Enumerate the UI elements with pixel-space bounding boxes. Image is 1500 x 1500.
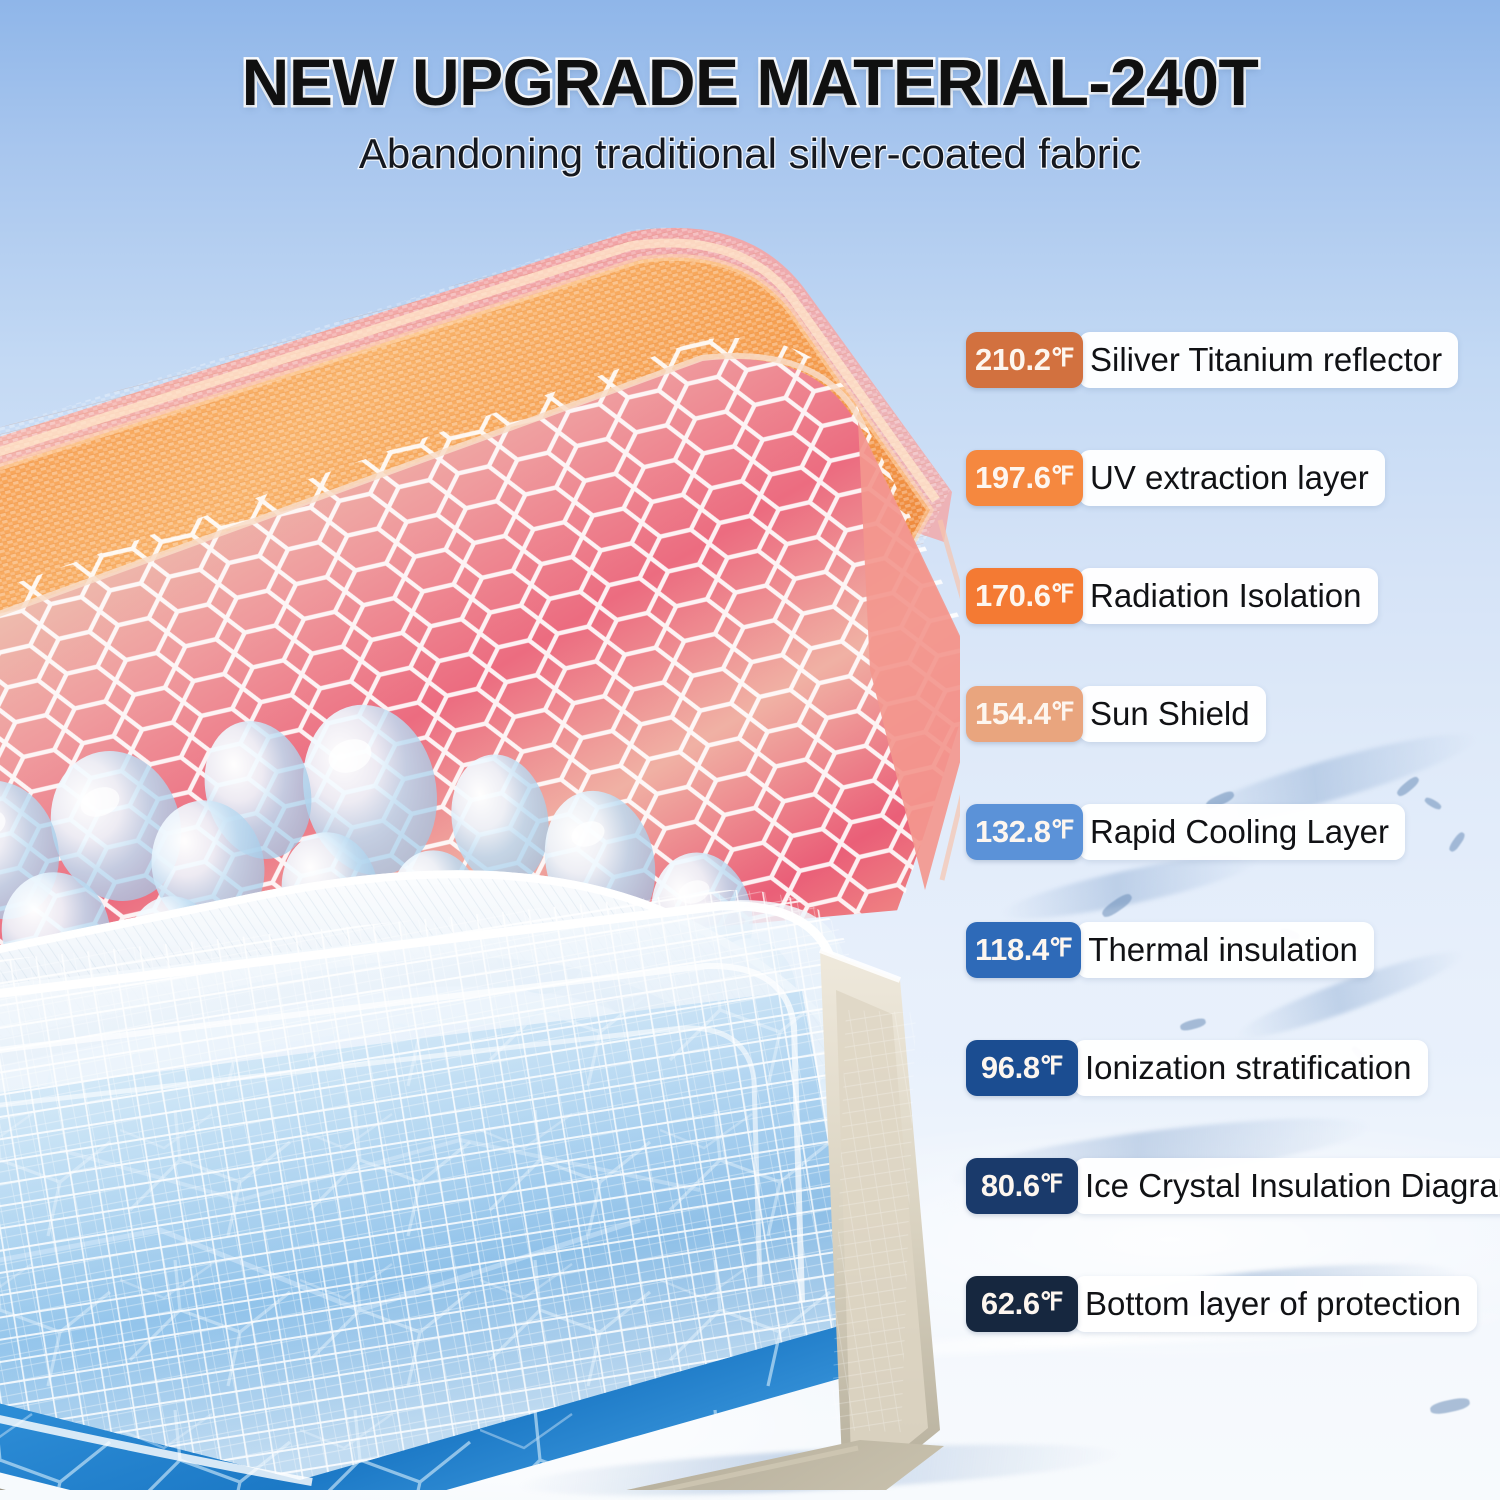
legend-row-ionization-stratification: 96.8℉Ionization stratification (966, 1040, 1428, 1096)
temperature-badge-thermal-insulation: 118.4℉ (966, 922, 1081, 978)
legend-row-radiation-isolation: 170.6℉Radiation Isolation (966, 568, 1378, 624)
layer-label-thermal-insulation: Thermal insulation (1077, 922, 1374, 978)
degree-fahrenheit-unit: ℉ (1040, 1169, 1063, 1199)
legend-row-silver-titanium-reflector: 210.2℉Siliver Titanium reflector (966, 332, 1458, 388)
layer-label-radiation-isolation: Radiation Isolation (1079, 568, 1378, 624)
layer-label-sun-shield: Sun Shield (1079, 686, 1266, 742)
degree-fahrenheit-unit: ℉ (1051, 697, 1074, 727)
temperature-value: 62.6 (981, 1286, 1040, 1322)
ice-speck (1429, 1396, 1471, 1416)
degree-fahrenheit-unit: ℉ (1051, 815, 1074, 845)
legend-row-uv-extraction-layer: 197.6℉UV extraction layer (966, 450, 1385, 506)
temperature-badge-sun-shield: 154.4℉ (966, 686, 1083, 742)
legend-row-thermal-insulation: 118.4℉Thermal insulation (966, 922, 1374, 978)
degree-fahrenheit-unit: ℉ (1040, 1051, 1063, 1081)
temperature-value: 96.8 (981, 1050, 1040, 1086)
layer-label-silver-titanium-reflector: Siliver Titanium reflector (1079, 332, 1458, 388)
layer-label-ice-crystal-insulation-diagram: Ice Crystal Insulation Diagram (1074, 1158, 1500, 1214)
temperature-badge-bottom-layer-of-protection: 62.6℉ (966, 1276, 1078, 1332)
temperature-value: 80.6 (981, 1168, 1040, 1204)
temperature-badge-radiation-isolation: 170.6℉ (966, 568, 1083, 624)
fabric-layers-illustration (0, 190, 960, 1490)
degree-fahrenheit-unit: ℉ (1051, 579, 1074, 609)
page-subtitle: Abandoning traditional silver-coated fab… (0, 131, 1500, 177)
temperature-badge-ionization-stratification: 96.8℉ (966, 1040, 1078, 1096)
legend-row-ice-crystal-insulation-diagram: 80.6℉Ice Crystal Insulation Diagram (966, 1158, 1496, 1214)
temperature-badge-ice-crystal-insulation-diagram: 80.6℉ (966, 1158, 1078, 1214)
temperature-value: 210.2 (975, 342, 1051, 378)
legend-row-bottom-layer-of-protection: 62.6℉Bottom layer of protection (966, 1276, 1477, 1332)
page-title: NEW UPGRADE MATERIAL-240T (0, 48, 1500, 117)
layer-label-ionization-stratification: Ionization stratification (1074, 1040, 1428, 1096)
temperature-value: 118.4 (975, 932, 1049, 968)
legend-row-rapid-cooling-layer: 132.8℉Rapid Cooling Layer (966, 804, 1405, 860)
temperature-badge-uv-extraction-layer: 197.6℉ (966, 450, 1083, 506)
temperature-value: 170.6 (975, 578, 1051, 614)
infographic-canvas: NEW UPGRADE MATERIAL-240T Abandoning tra… (0, 0, 1500, 1500)
temperature-badge-silver-titanium-reflector: 210.2℉ (966, 332, 1083, 388)
legend-row-sun-shield: 154.4℉Sun Shield (966, 686, 1266, 742)
temperature-badge-rapid-cooling-layer: 132.8℉ (966, 804, 1083, 860)
layer-label-bottom-layer-of-protection: Bottom layer of protection (1074, 1276, 1477, 1332)
degree-fahrenheit-unit: ℉ (1049, 933, 1072, 963)
temperature-value: 197.6 (975, 460, 1051, 496)
degree-fahrenheit-unit: ℉ (1051, 343, 1074, 373)
degree-fahrenheit-unit: ℉ (1040, 1287, 1063, 1317)
temperature-value: 132.8 (975, 814, 1051, 850)
temperature-value: 154.4 (975, 696, 1051, 732)
layer-label-uv-extraction-layer: UV extraction layer (1079, 450, 1385, 506)
degree-fahrenheit-unit: ℉ (1051, 461, 1074, 491)
layer-legend-list: 210.2℉Siliver Titanium reflector197.6℉UV… (966, 332, 1496, 1332)
header-block: NEW UPGRADE MATERIAL-240T Abandoning tra… (0, 48, 1500, 177)
layer-label-rapid-cooling-layer: Rapid Cooling Layer (1079, 804, 1405, 860)
